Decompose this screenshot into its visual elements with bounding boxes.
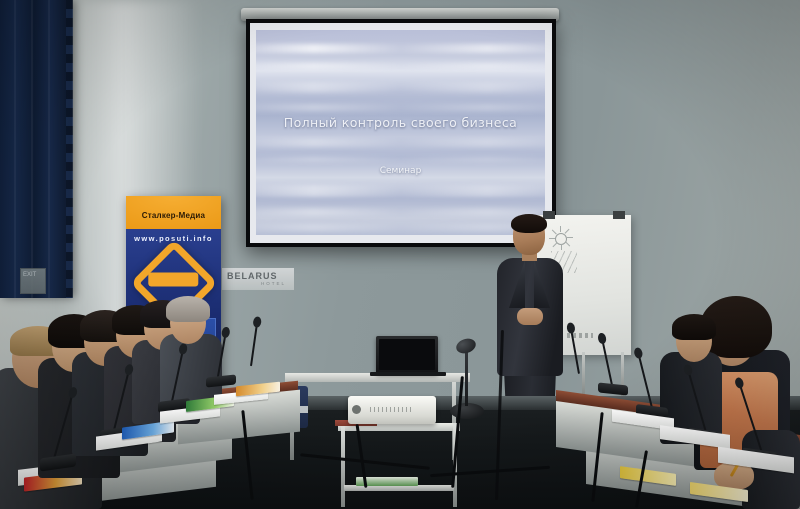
wall-sign-plate: EXIT — [20, 268, 46, 294]
window-curtain — [0, 0, 72, 298]
laptop-screen — [379, 339, 435, 370]
hotel-sign-name: BELARUS — [227, 272, 294, 281]
laptop-keyboard-base[interactable] — [370, 372, 446, 376]
hotel-wall-sign: BELARUS HOTEL — [222, 268, 294, 290]
presenter-hair — [511, 214, 547, 233]
projector-vent — [370, 407, 414, 412]
hotel-sign-sub: HOTEL — [261, 281, 286, 286]
wall-plate-text: EXIT — [23, 272, 36, 278]
laptop[interactable] — [376, 336, 438, 374]
presentation-slide: Полный контроль своего бизнеса Семинар — [256, 30, 545, 235]
seminar-photo: EXIT Полный контроль своего бизнеса Семи… — [0, 0, 800, 509]
slide-title: Полный контроль своего бизнеса — [256, 115, 545, 130]
floor-mic-pole — [465, 350, 468, 406]
slide-subtitle: Семинар — [256, 166, 545, 176]
projector[interactable] — [348, 396, 436, 424]
banner-brand-name: Сталкер-Медиа — [126, 211, 221, 220]
presenter-hands — [517, 308, 543, 325]
projector-lens-icon — [352, 405, 361, 414]
